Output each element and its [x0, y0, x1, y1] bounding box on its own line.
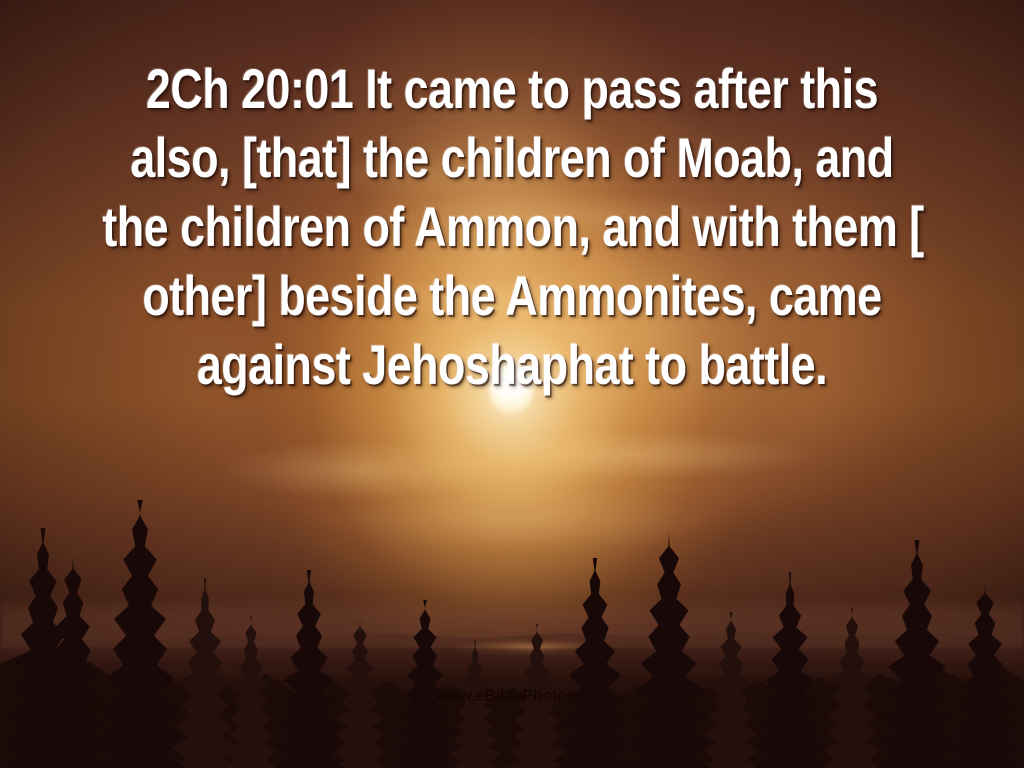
verse-line-2: also, [that] the children of Moab, and [102, 123, 921, 192]
scripture-photo-canvas: 2Ch 20:01 It came to pass after this als… [0, 0, 1024, 768]
verse-text-block: 2Ch 20:01 It came to pass after this als… [0, 54, 1024, 399]
verse-line-1: 2Ch 20:01 It came to pass after this [102, 54, 921, 123]
watermark-credit: (c) www.eBiblePhotos.com [41, 686, 983, 706]
verse-line-4: other] beside the Ammonites, came [102, 261, 921, 330]
verse-line-5: against Jehoshaphat to battle. [102, 330, 921, 399]
verse-line-3: the children of Ammon, and with them [ [102, 192, 921, 261]
